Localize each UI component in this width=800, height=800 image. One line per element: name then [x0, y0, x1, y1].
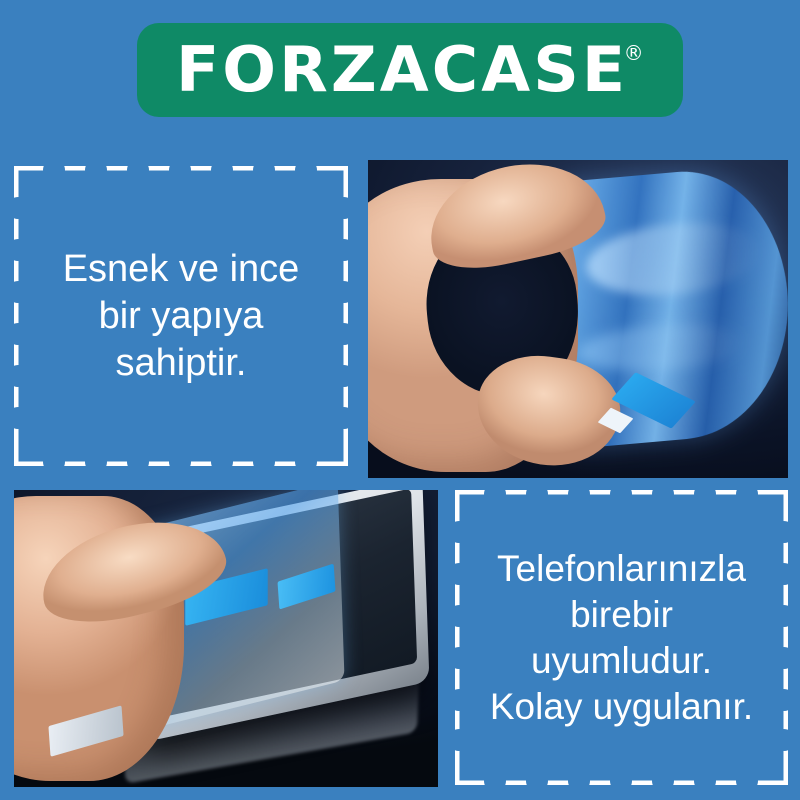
brand-logo-badge: FORZACASE ® — [137, 23, 683, 117]
feature-panel-flexible-text: Esnek ve ince bir yapıya sahiptir. — [37, 246, 326, 387]
feature-panel-compatible-text: Telefonlarınızla birebir uyumludur. Kola… — [464, 546, 779, 730]
product-photo-flexible-film — [368, 160, 788, 478]
photo-scene-flexible — [368, 160, 788, 478]
brand-logo-wrap: FORZACASE ® — [176, 39, 643, 101]
photo-scene-application — [14, 490, 438, 787]
feature-panel-flexible: Esnek ve ince bir yapıya sahiptir. — [14, 166, 348, 466]
feature-panel-compatible: Telefonlarınızla birebir uyumludur. Kola… — [455, 490, 788, 785]
poster-canvas: FORZACASE ® — [0, 0, 800, 800]
product-photo-application — [14, 490, 438, 787]
brand-name: FORZACASE — [176, 39, 628, 101]
